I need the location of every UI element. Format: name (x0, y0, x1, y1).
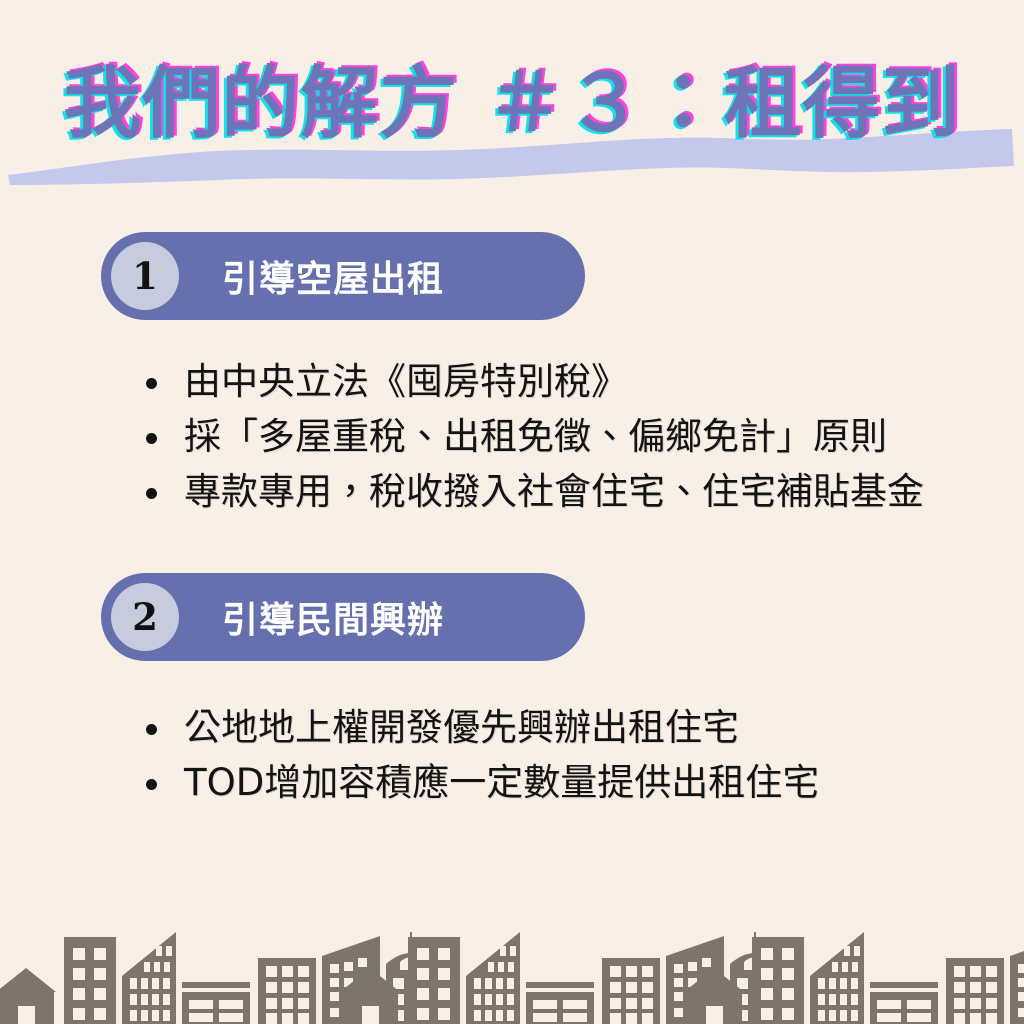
section-badge-1[interactable]: 1 引導空屋出租 (101, 232, 585, 320)
page-title: 我們的解方 ＃３：租得到 (0, 52, 1024, 156)
list-item: 由中央立法《囤房特別稅》 (140, 354, 924, 409)
list-item: 專款專用，稅收撥入社會住宅、住宅補貼基金 (140, 464, 924, 519)
title-block: 我們的解方 ＃３：租得到 (0, 52, 1024, 172)
section-1-bullet-list: 由中央立法《囤房特別稅》 採「多屋重稅、出租免徵、偏鄉免計」原則 專款專用，稅收… (140, 354, 924, 519)
section-heading-1: 引導空屋出租 (222, 250, 444, 302)
section-heading-2: 引導民間興辦 (222, 591, 444, 643)
section-number-2: 2 (111, 583, 179, 651)
section-2-bullet-list: 公地地上權開發優先興辦出租住宅 TOD增加容積應一定數量提供出租住宅 (140, 700, 819, 810)
section-badge-2[interactable]: 2 引導民間興辦 (101, 573, 585, 661)
list-item: 公地地上權開發優先興辦出租住宅 (140, 700, 819, 755)
slide-canvas: 我們的解方 ＃３：租得到 1 引導空屋出租 由中央立法《囤房特別稅》 採「多屋重… (0, 0, 1024, 1024)
list-item: TOD增加容積應一定數量提供出租住宅 (140, 755, 819, 810)
list-item: 採「多屋重稅、出租免徵、偏鄉免計」原則 (140, 409, 924, 464)
section-number-1: 1 (111, 242, 179, 310)
city-skyline-icon (0, 920, 1024, 1024)
